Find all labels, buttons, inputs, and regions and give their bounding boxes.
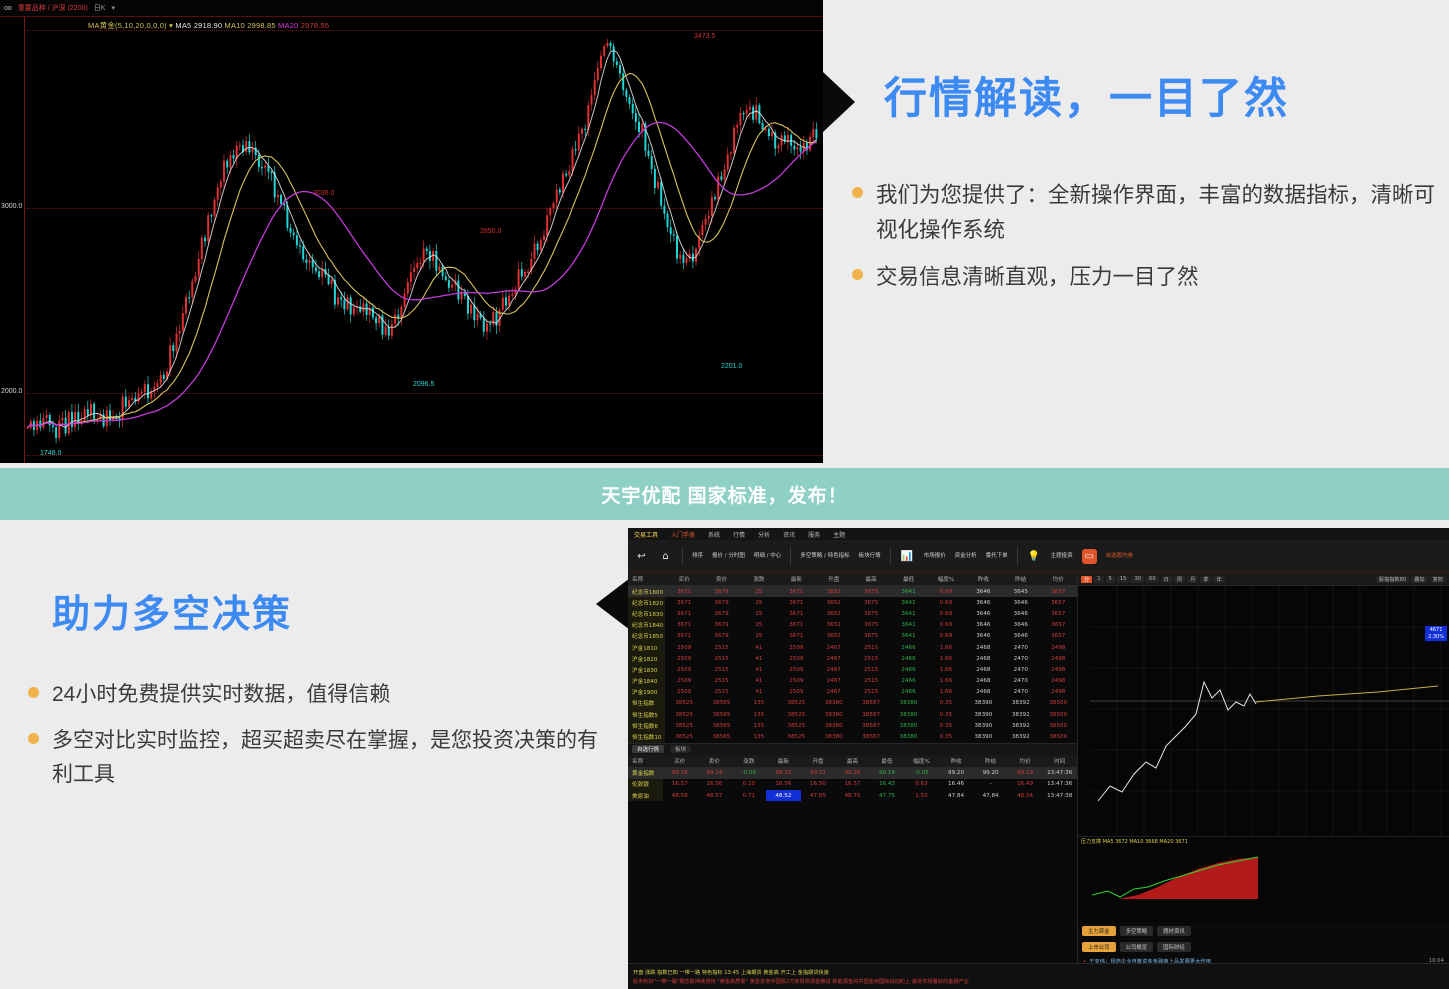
section-one-heading: 行情解读，一目了然 xyxy=(884,64,1289,126)
cell: 2515 xyxy=(703,676,740,687)
cell: 38380 xyxy=(890,731,927,742)
cell: 2467 xyxy=(815,687,852,698)
terminal-left-panel: 名称买价卖价涨跌最新开盘最高最低幅度%昨收昨结均价 纪念币18003671367… xyxy=(628,573,1077,989)
cell: 13:47:36 xyxy=(1042,779,1077,790)
column-header[interactable]: 开盘 xyxy=(815,573,852,586)
cell: 3671 xyxy=(665,631,702,642)
cell: 135 xyxy=(740,731,777,742)
cell: 0.69 xyxy=(927,586,964,598)
cell: 3675 xyxy=(852,586,889,598)
cell: 2515 xyxy=(703,687,740,698)
cell: 38380 xyxy=(890,720,927,731)
cell: 0.35 xyxy=(927,698,964,709)
cell: 41 xyxy=(740,653,777,664)
column-header[interactable]: 均价 xyxy=(1039,573,1077,586)
toolbar-item-6[interactable]: 资金分析 xyxy=(955,553,977,560)
cell: 2509 xyxy=(665,687,702,698)
column-header[interactable]: 买价 xyxy=(665,573,702,586)
cell: 3679 xyxy=(703,608,740,619)
column-header[interactable]: 开盘 xyxy=(801,755,836,768)
toolbar-label: 多空策略 / 特色指标 xyxy=(800,553,849,560)
table-row[interactable]: 美原油48.5848.570.7148.5247.8548.7047.751.5… xyxy=(628,790,1077,801)
cell: 99.20 xyxy=(973,767,1008,779)
cell: 3641 xyxy=(890,631,927,642)
cell: 38525 xyxy=(778,731,815,742)
back-icon[interactable]: ↩ xyxy=(634,549,649,564)
cell: 2466 xyxy=(890,653,927,664)
column-header[interactable]: 最新 xyxy=(778,573,815,586)
cell: 3679 xyxy=(703,586,740,598)
row-name: 伦敦银 xyxy=(628,779,663,790)
cell: 0.69 xyxy=(927,631,964,642)
cell: 0.35 xyxy=(927,720,964,731)
cell: 2466 xyxy=(890,676,927,687)
tab-global-finance[interactable]: 国际财经 xyxy=(1157,942,1191,952)
cell: 0.71 xyxy=(732,790,767,801)
column-header[interactable]: 均价 xyxy=(1008,755,1043,768)
cell: 1.53 xyxy=(904,790,939,801)
list-item: 我们为您提供了：全新操作界面，丰富的数据指标，清晰可视化操作系统 xyxy=(852,178,1442,248)
table-row[interactable]: 沪金1820250925154125092467251524661.662468… xyxy=(628,653,1077,664)
cell: 2467 xyxy=(815,642,852,653)
row-name: 纪念币1840 xyxy=(628,620,665,631)
chart-timeframe-bar: 分15153060日周月季年 股指指数80 叠加 复权 xyxy=(1078,573,1449,586)
cell: 135 xyxy=(740,709,777,720)
cell: 2467 xyxy=(815,653,852,664)
menu-item-6[interactable]: 服务 xyxy=(808,530,820,539)
cell: 41 xyxy=(740,676,777,687)
cell: 3671 xyxy=(778,586,815,598)
timeframe-60[interactable]: 60 xyxy=(1146,576,1159,583)
home-icon[interactable]: ⌂ xyxy=(658,549,673,564)
cell: 38500 xyxy=(1039,720,1077,731)
column-header[interactable]: 最高 xyxy=(852,573,889,586)
toolbar-item-7[interactable]: 委托下单 xyxy=(986,553,1008,560)
column-header[interactable]: 幅度% xyxy=(927,573,964,586)
bullet-text: 24小时免费提供实时数据，值得信赖 xyxy=(52,678,390,712)
screen-icon[interactable]: ▭ xyxy=(1082,549,1097,564)
table-row[interactable]: 纪念币1840367136792536713652367536410.69364… xyxy=(628,620,1077,631)
candlestick-series xyxy=(0,0,823,463)
row-name: 沪金1830 xyxy=(628,664,665,675)
table-row[interactable]: 恒生指数53852538565135385253838038587383800.… xyxy=(628,709,1077,720)
toolbar-label: 委托下单 xyxy=(986,553,1008,560)
row-name: 恒生指数 xyxy=(628,698,665,709)
cell: 38392 xyxy=(1002,698,1039,709)
cell: 2498 xyxy=(1039,664,1077,675)
cell: 38390 xyxy=(965,731,1002,742)
toolbar-item-2[interactable]: 明细 / 中心 xyxy=(754,553,781,560)
cell: 38525 xyxy=(665,720,702,731)
price-chart[interactable]: 4671 2.30% xyxy=(1078,586,1449,836)
sub-tab-1[interactable]: 板块 xyxy=(670,745,691,753)
cell: 99.19 xyxy=(1008,767,1043,779)
cell: 38380 xyxy=(815,709,852,720)
promo-banner: 天宇优配 国家标准，发布！ xyxy=(0,468,1449,520)
toolbar-divider xyxy=(1017,547,1018,565)
timeframe-年[interactable]: 年 xyxy=(1213,576,1224,583)
bullet-text: 多空对比实时监控，超买超卖尽在掌握，是您投资决策的有利工具 xyxy=(52,724,608,792)
cell: 2515 xyxy=(852,664,889,675)
cell: 2509 xyxy=(778,687,815,698)
cell: 16.57 xyxy=(663,779,698,790)
cell: 38380 xyxy=(890,709,927,720)
cell: 2470 xyxy=(1002,642,1039,653)
market-chart-screenshot: oo 重要品种 / 沪深 (2200) 日K ▾ MA黄金(5,10,20,0,… xyxy=(0,0,823,463)
tab-main-funds[interactable]: 主力资金 xyxy=(1082,926,1116,936)
terminal-status-bar: 开盘 涨跌 指数已知 一带一路 特色指标 13:45 上海期货 黄金高 开工上 … xyxy=(628,963,1449,989)
table-header-row: 名称买价卖价涨跌最新开盘最高最低幅度%昨收昨结均价 xyxy=(628,573,1077,586)
cell: 2498 xyxy=(1039,676,1077,687)
terminal-sub-tabs[interactable]: 自选行情板块 xyxy=(628,743,1077,755)
timeframe-5[interactable]: 5 xyxy=(1106,576,1115,583)
cell: 3671 xyxy=(665,586,702,598)
toolbar-label: 排序 xyxy=(692,553,703,560)
cell: 25 xyxy=(740,608,777,619)
status-line-2: 股市利好"一带一路"概念股持续增持 "黄金高质量" 黄金定增中国股2万家财资源金… xyxy=(633,978,1449,985)
cell: 48.70 xyxy=(835,790,870,801)
cell: 0.63 xyxy=(904,779,939,790)
cell: 3646 xyxy=(1002,597,1039,608)
table-row[interactable]: 纪念币1850367136792536713652367536410.69364… xyxy=(628,631,1077,642)
column-header[interactable]: 最低 xyxy=(890,573,927,586)
table-row[interactable]: 纪念币1820367136792536713652367536410.69364… xyxy=(628,597,1077,608)
cell: 2466 xyxy=(890,642,927,653)
cell: 3679 xyxy=(703,620,740,631)
cell: 41 xyxy=(740,642,777,653)
section-two-bullets: 24小时免费提供实时数据，值得信赖 多空对比实时监控，超买超卖尽在掌握，是您投资… xyxy=(28,678,608,804)
cell: 3657 xyxy=(1039,620,1077,631)
cell: 3671 xyxy=(665,608,702,619)
column-header[interactable]: 最新 xyxy=(766,755,801,768)
cell: 38525 xyxy=(778,709,815,720)
row-name: 纪念币1850 xyxy=(628,631,665,642)
table-row[interactable]: 纪念币1800367136792536713652367536410.69364… xyxy=(628,586,1077,598)
timeframe-月[interactable]: 月 xyxy=(1187,576,1198,583)
cell: 3679 xyxy=(703,597,740,608)
table-row[interactable]: 沪金1830250925154125092467251524661.662468… xyxy=(628,664,1077,675)
toolbar-divider xyxy=(790,547,791,565)
cell: 3646 xyxy=(965,620,1002,631)
menu-item-4[interactable]: 分析 xyxy=(758,530,770,539)
symbol-dropdown[interactable]: 股指指数80 xyxy=(1376,576,1409,583)
cell: 2515 xyxy=(852,642,889,653)
bullet-dot-icon xyxy=(28,687,39,698)
menu-item-0[interactable]: 交易工具 xyxy=(634,530,658,539)
cell: 38525 xyxy=(778,698,815,709)
status-text: 股市利好"一带一路"概念股持续增持 "黄金高质量" 黄金定增中国股2万家财资源金… xyxy=(633,978,969,985)
cell: 41 xyxy=(740,687,777,698)
cell: 2467 xyxy=(815,664,852,675)
tab-long-short[interactable]: 多空策略 xyxy=(1120,926,1154,936)
toolbar-item-8[interactable]: 主题投资 xyxy=(1051,553,1073,560)
column-header[interactable]: 最低 xyxy=(870,755,905,768)
price-tag-value: 4671 xyxy=(1428,627,1444,634)
cell: 3657 xyxy=(1039,586,1077,598)
toolbar-item-4[interactable]: 板块行情 xyxy=(859,553,881,560)
table-row[interactable]: 恒生指数103852538565135385253838038587383800… xyxy=(628,731,1077,742)
cell: 2468 xyxy=(965,687,1002,698)
slide-page: oo 重要品种 / 沪深 (2200) 日K ▾ MA黄金(5,10,20,0,… xyxy=(0,0,1449,989)
toolbar-label: 资金分析 xyxy=(955,553,977,560)
cell: 0.35 xyxy=(927,731,964,742)
cell: 16.46 xyxy=(939,779,974,790)
cell: 2509 xyxy=(778,676,815,687)
cell: 2466 xyxy=(890,664,927,675)
menu-item-7[interactable]: 主题 xyxy=(833,530,845,539)
cell: 3671 xyxy=(778,608,815,619)
tab-listed-companies[interactable]: 上市公司 xyxy=(1082,942,1116,952)
timeframe-15[interactable]: 15 xyxy=(1117,576,1130,583)
price-tag-change: 2.30% xyxy=(1428,634,1444,641)
current-price-tag: 4671 2.30% xyxy=(1425,626,1447,641)
cell: 135 xyxy=(740,698,777,709)
toolbar-label: 报价 / 分时图 xyxy=(712,553,745,560)
bullet-text: 交易信息清晰直观，压力一目了然 xyxy=(876,260,1199,295)
cell: 3646 xyxy=(965,608,1002,619)
toolbar-divider xyxy=(890,547,891,565)
cell: 99.14 xyxy=(870,767,905,779)
toolbar-item-5[interactable]: 市场报价 xyxy=(924,553,946,560)
column-header[interactable]: 时间 xyxy=(1042,755,1077,768)
indicator-chart[interactable]: 压力支撑 MA5 3672 MA10 3668 MA20 3671 xyxy=(1078,836,1449,923)
column-header[interactable]: 涨跌 xyxy=(732,755,767,768)
table-row[interactable]: 沪金1900250925154125092467251524661.662468… xyxy=(628,687,1077,698)
menu-item-1[interactable]: 入门手册 xyxy=(671,530,695,539)
cell: 16.43 xyxy=(870,779,905,790)
chart-icon[interactable]: 📊 xyxy=(900,549,915,564)
table-row[interactable]: 黄金指数99.1699.14-0.0599.1599.2199.2699.14-… xyxy=(628,767,1077,779)
column-header[interactable]: 买价 xyxy=(663,755,698,768)
cell: 2515 xyxy=(852,676,889,687)
cell: 3646 xyxy=(1002,608,1039,619)
cell: 3652 xyxy=(815,620,852,631)
row-name: 黄金指数 xyxy=(628,767,663,779)
toolbar-divider xyxy=(682,547,683,565)
timeframe-1[interactable]: 1 xyxy=(1094,576,1103,583)
cell: 0.69 xyxy=(927,620,964,631)
tab-company-overview[interactable]: 公司概览 xyxy=(1120,942,1154,952)
cell: 38390 xyxy=(965,709,1002,720)
cell: 2467 xyxy=(815,676,852,687)
cell: 38565 xyxy=(703,698,740,709)
timeframe-分[interactable]: 分 xyxy=(1081,576,1092,583)
detail-table-body[interactable]: 黄金指数99.1699.14-0.0599.1599.2199.2699.14-… xyxy=(628,767,1077,801)
menu-item-5[interactable]: 资讯 xyxy=(783,530,795,539)
bullet-dot-icon xyxy=(852,269,863,280)
cell: 3646 xyxy=(965,597,1002,608)
banner-text: 天宇优配 国家标准，发布！ xyxy=(601,481,847,508)
toolbar-item-0[interactable]: 排序 xyxy=(692,553,703,560)
bullet-dot-icon xyxy=(28,733,39,744)
cell: 1.66 xyxy=(927,687,964,698)
table-row[interactable]: 沪金1810250925154125092467251524661.662468… xyxy=(628,642,1077,653)
cell: 16.57 xyxy=(835,779,870,790)
toolbar-item-3[interactable]: 多空策略 / 特色指标 xyxy=(800,553,849,560)
cell: 135 xyxy=(740,720,777,731)
cell: 2468 xyxy=(965,653,1002,664)
tab-theme-news[interactable]: 题材资讯 xyxy=(1157,926,1191,936)
cell: 0.10 xyxy=(732,779,767,790)
cell: 38380 xyxy=(890,698,927,709)
cell: 99.21 xyxy=(801,767,836,779)
cell: 2509 xyxy=(665,642,702,653)
cell: 16.50 xyxy=(801,779,836,790)
toolbar-item-1[interactable]: 报价 / 分时图 xyxy=(712,553,745,560)
cell: 38565 xyxy=(703,731,740,742)
table-row[interactable]: 恒生指数3852538565135385253838038587383800.3… xyxy=(628,698,1077,709)
cell: 3657 xyxy=(1039,597,1077,608)
toolbar-item-9[interactable]: 自选股内参 xyxy=(1106,553,1134,560)
status-text: 开盘 涨跌 指数已知 一带一路 特色指标 13:45 上海期货 黄金高 开工上 … xyxy=(633,969,829,976)
cell: 38392 xyxy=(1002,731,1039,742)
cell: 38565 xyxy=(703,720,740,731)
column-header[interactable]: 昨结 xyxy=(1002,573,1039,586)
timeframe-周[interactable]: 周 xyxy=(1174,576,1185,583)
timeframe-日[interactable]: 日 xyxy=(1161,576,1172,583)
column-header[interactable]: 最高 xyxy=(835,755,870,768)
status-line-1: 开盘 涨跌 指数已知 一带一路 特色指标 13:45 上海期货 黄金高 开工上 … xyxy=(633,969,1449,976)
column-header[interactable]: 卖价 xyxy=(697,755,732,768)
cell: 48.57 xyxy=(697,790,732,801)
cell: 0.69 xyxy=(927,597,964,608)
cell: 3671 xyxy=(778,631,815,642)
cell: 38587 xyxy=(852,698,889,709)
cell: 38390 xyxy=(965,698,1002,709)
menu-item-2[interactable]: 系统 xyxy=(708,530,720,539)
cell: 2515 xyxy=(703,642,740,653)
sub-tab-0[interactable]: 自选行情 xyxy=(632,745,664,753)
quote-table-body[interactable]: 纪念币1800367136792536713652367536410.69364… xyxy=(628,586,1077,743)
row-name: 恒生指数5 xyxy=(628,709,665,720)
cell: 3652 xyxy=(815,631,852,642)
timeframe-季[interactable]: 季 xyxy=(1200,576,1211,583)
table-row[interactable]: 沪金1840250925154125092467251524661.662468… xyxy=(628,676,1077,687)
cell: 48.58 xyxy=(663,790,698,801)
cell: 3652 xyxy=(815,597,852,608)
detail-table: 名称买价卖价涨跌最新开盘最高最低幅度%昨收昨结均价时间 黄金指数99.1699.… xyxy=(628,755,1077,802)
column-header[interactable]: 昨收 xyxy=(939,755,974,768)
bulb-icon[interactable]: 💡 xyxy=(1027,549,1042,564)
price-line-series xyxy=(1078,586,1449,836)
adjust-button[interactable]: 复权 xyxy=(1430,576,1446,583)
cell: 2509 xyxy=(665,653,702,664)
list-item: 多空对比实时监控，超买超卖尽在掌握，是您投资决策的有利工具 xyxy=(28,724,608,792)
cell: 3652 xyxy=(815,586,852,598)
cell: 2470 xyxy=(1002,653,1039,664)
cell: 3679 xyxy=(703,631,740,642)
cell: 99.14 xyxy=(697,767,732,779)
cell: 3646 xyxy=(1002,620,1039,631)
cell: - xyxy=(973,779,1008,790)
cell: 47.85 xyxy=(801,790,836,801)
cell: 3645 xyxy=(1002,586,1039,598)
cell: 3641 xyxy=(890,608,927,619)
cell: 38587 xyxy=(852,731,889,742)
cell: 2468 xyxy=(965,676,1002,687)
column-header[interactable]: 昨收 xyxy=(965,573,1002,586)
row-name: 纪念币1800 xyxy=(628,586,665,598)
cell: 2468 xyxy=(965,664,1002,675)
pointer-arrow-left xyxy=(596,578,630,630)
cell: 2509 xyxy=(778,642,815,653)
row-name: 沪金1840 xyxy=(628,676,665,687)
column-header[interactable]: 名称 xyxy=(628,573,665,586)
column-header[interactable]: 涨跌 xyxy=(740,573,777,586)
cell: 0.69 xyxy=(927,608,964,619)
cell: 38565 xyxy=(703,709,740,720)
row-name: 恒生指数6 xyxy=(628,720,665,731)
cell: 38390 xyxy=(965,720,1002,731)
cell: 38392 xyxy=(1002,709,1039,720)
cell: 38380 xyxy=(815,720,852,731)
cell: 2470 xyxy=(1002,676,1039,687)
menu-item-3[interactable]: 行情 xyxy=(733,530,745,539)
timeframe-buttons[interactable]: 分15153060日周月季年 xyxy=(1081,576,1225,583)
column-header[interactable]: 昨结 xyxy=(973,755,1008,768)
cell: 3657 xyxy=(1039,608,1077,619)
toolbar-label: 板块行情 xyxy=(859,553,881,560)
column-header[interactable]: 名称 xyxy=(628,755,663,768)
cell: 3671 xyxy=(778,597,815,608)
cell: 3675 xyxy=(852,608,889,619)
column-header[interactable]: 幅度% xyxy=(904,755,939,768)
cell: 47.84 xyxy=(973,790,1008,801)
toolbar-label: 主题投资 xyxy=(1051,553,1073,560)
cell: 3641 xyxy=(890,597,927,608)
table-header-row: 名称买价卖价涨跌最新开盘最高最低幅度%昨收昨结均价时间 xyxy=(628,755,1077,768)
table-row[interactable]: 恒生指数63852538565135385253838038587383800.… xyxy=(628,720,1077,731)
cell: 2515 xyxy=(703,653,740,664)
cell: 2509 xyxy=(778,653,815,664)
cell: 2498 xyxy=(1039,653,1077,664)
cell: 2470 xyxy=(1002,687,1039,698)
cell: 2515 xyxy=(852,687,889,698)
cell: 2509 xyxy=(665,676,702,687)
cell: -0.05 xyxy=(732,767,767,779)
cell: 2509 xyxy=(665,664,702,675)
cell: 2509 xyxy=(778,664,815,675)
cell: 3652 xyxy=(815,608,852,619)
column-header[interactable]: 卖价 xyxy=(703,573,740,586)
terminal-toolbar: ↩ ⌂ 排序 报价 / 分时图 明细 / 中心 多空策略 / 特色指标 板块行情… xyxy=(628,540,1449,573)
bullet-text: 我们为您提供了：全新操作界面，丰富的数据指标，清晰可视化操作系统 xyxy=(876,178,1442,248)
terminal-body: 名称买价卖价涨跌最新开盘最高最低幅度%昨收昨结均价 纪念币18003671367… xyxy=(628,573,1449,989)
cell: 25 xyxy=(740,586,777,598)
list-item: 交易信息清晰直观，压力一目了然 xyxy=(852,260,1442,295)
section-one-bullets: 我们为您提供了：全新操作界面，丰富的数据指标，清晰可视化操作系统 交易信息清晰直… xyxy=(852,178,1442,306)
cell: 3671 xyxy=(665,597,702,608)
cell: 41 xyxy=(740,664,777,675)
toolbar-label: 市场报价 xyxy=(924,553,946,560)
cell: 3641 xyxy=(890,586,927,598)
table-row[interactable]: 纪念币1830367136792536713652367536410.69364… xyxy=(628,608,1077,619)
cell: -0.05 xyxy=(904,767,939,779)
news-tab-strip[interactable]: 上市公司 公司概览 国际财经 xyxy=(1078,939,1449,955)
overlay-button[interactable]: 叠加 xyxy=(1411,576,1427,583)
indicator-label: 压力支撑 MA5 3672 MA10 3668 MA20 3671 xyxy=(1081,838,1188,845)
cell: 3657 xyxy=(1039,631,1077,642)
cell: 99.26 xyxy=(835,767,870,779)
cell: 38380 xyxy=(815,698,852,709)
table-row[interactable]: 伦敦银16.5716.560.1016.5616.5016.5716.430.6… xyxy=(628,779,1077,790)
bullet-dot-icon xyxy=(852,187,863,198)
timeframe-30[interactable]: 30 xyxy=(1131,576,1144,583)
cell: 3671 xyxy=(665,620,702,631)
cell: 16.49 xyxy=(1008,779,1043,790)
chart-tab-strip[interactable]: 主力资金 多空策略 题材资讯 xyxy=(1078,923,1449,939)
cell: 2515 xyxy=(703,664,740,675)
